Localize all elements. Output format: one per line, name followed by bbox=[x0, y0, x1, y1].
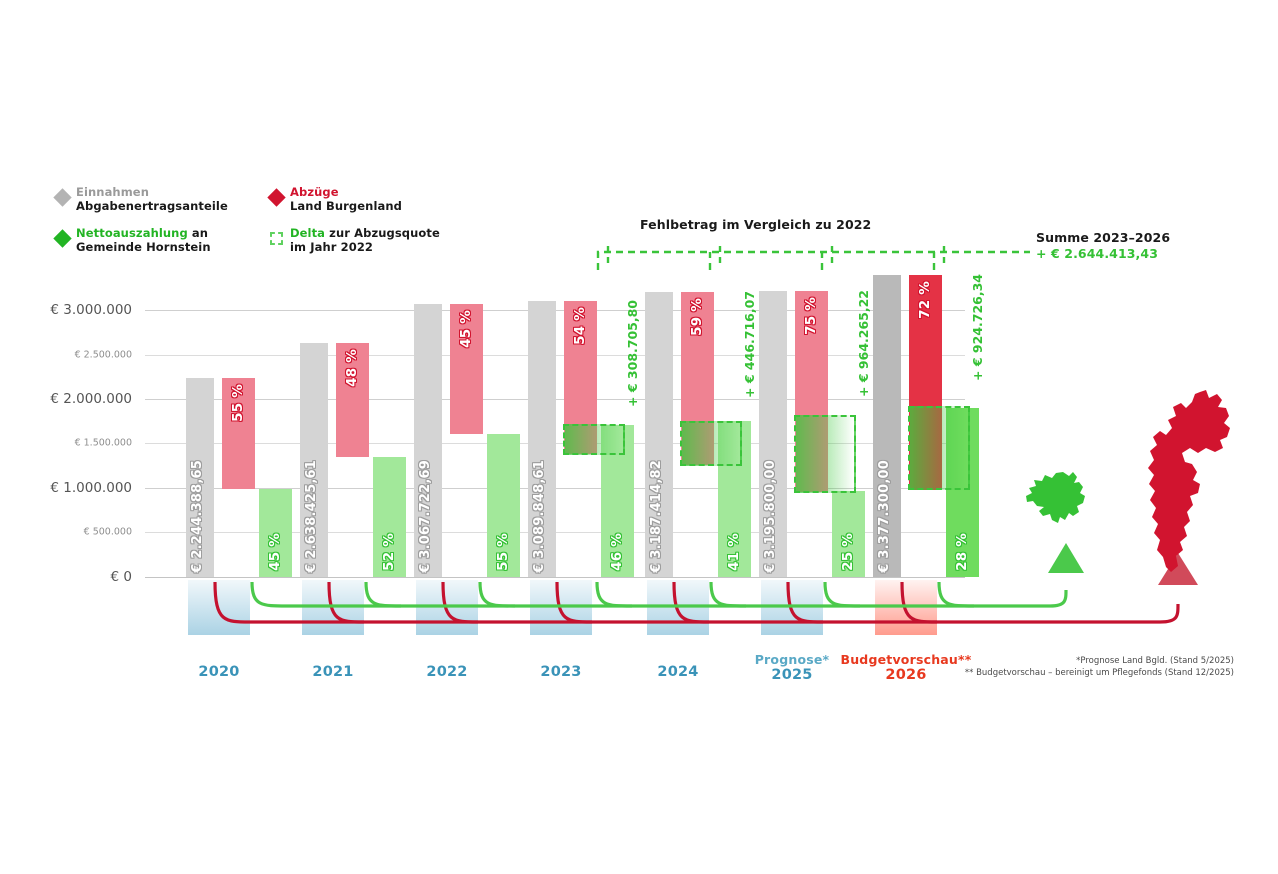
footnote-prognose: *Prognose Land Bgld. (Stand 5/2025) bbox=[965, 655, 1234, 667]
y-tick-label: € 1.000.000 bbox=[50, 480, 132, 496]
map-land-burgenland bbox=[1130, 390, 1240, 590]
bar-group-2022: € 3.067.722,69 45 % 55 % bbox=[414, 304, 534, 577]
bar-group-2025: € 3.195.800,00 75 % 25 % + € 964.265,22 bbox=[759, 291, 889, 577]
bar-amount-label: € 2.638.425,61 bbox=[304, 460, 319, 573]
bar-amount-label: € 3.089.848,61 bbox=[532, 460, 547, 573]
delta-label: + € 924.726,34 bbox=[970, 274, 985, 381]
bar-amount-label: € 3.377.300,00 bbox=[877, 460, 892, 573]
bar-amount-label: € 3.187.414,82 bbox=[649, 460, 664, 573]
y-tick-label: € 1.500.000 bbox=[75, 438, 132, 449]
map-gemeinde-hornstein bbox=[1025, 470, 1107, 542]
delta-label: + € 964.265,22 bbox=[856, 290, 871, 397]
plot-area: € 3.000.000 € 2.500.000 € 2.000.000 € 1.… bbox=[0, 0, 1278, 874]
delta-overlay-2023 bbox=[563, 424, 625, 455]
y-tick-label: € 500.000 bbox=[84, 527, 132, 538]
bar-amount-label: € 2.244.388,65 bbox=[190, 460, 205, 573]
year-label-2026: Budgetvorschau** 2026 bbox=[836, 652, 976, 683]
y-tick-label: € 2.500.000 bbox=[75, 350, 132, 361]
y-tick-label: € 3.000.000 bbox=[50, 302, 132, 318]
bar-group-2024: € 3.187.414,82 59 % 41 % + € 446.716,07 bbox=[645, 292, 775, 577]
bar-red-percent-label: 75 % bbox=[803, 297, 819, 335]
delta-label: + € 308.705,80 bbox=[625, 300, 640, 407]
delta-overlay-2025 bbox=[794, 415, 856, 493]
green-arrow-icon bbox=[1040, 543, 1100, 581]
bar-red-percent-label: 59 % bbox=[689, 298, 705, 336]
bar-group-2026: € 3.377.300,00 72 % 28 % + € 924.726,34 bbox=[873, 275, 1003, 577]
bar-group-2020: € 2.244.388,65 55 % 45 % bbox=[186, 310, 306, 577]
bar-red-percent-label: 55 % bbox=[230, 384, 246, 422]
bar-red-percent-label: 45 % bbox=[458, 310, 474, 348]
delta-label: + € 446.716,07 bbox=[742, 291, 757, 398]
delta-overlay-2024 bbox=[680, 421, 742, 466]
footnotes: *Prognose Land Bgld. (Stand 5/2025) ** B… bbox=[965, 655, 1234, 679]
delta-overlay-2026 bbox=[908, 406, 970, 490]
footnote-budgetvorschau: ** Budgetvorschau – bereinigt um Pflegef… bbox=[965, 667, 1234, 679]
bar-group-2023: € 3.089.848,61 54 % 46 % + € 308.705,80 bbox=[528, 301, 658, 577]
bar-red-percent-label: 72 % bbox=[917, 281, 933, 319]
bar-red-percent-label: 54 % bbox=[572, 307, 588, 345]
bar-amount-label: € 3.067.722,69 bbox=[418, 460, 433, 573]
y-tick-label: € 2.000.000 bbox=[50, 391, 132, 407]
infographic-canvas: Einnahmen Abgabenertragsanteile Abzüge L… bbox=[0, 0, 1278, 874]
bar-red-percent-label: 48 % bbox=[344, 349, 360, 387]
bar-amount-label: € 3.195.800,00 bbox=[763, 460, 778, 573]
bar-group-2021: € 2.638.425,61 48 % 52 % bbox=[300, 310, 420, 577]
